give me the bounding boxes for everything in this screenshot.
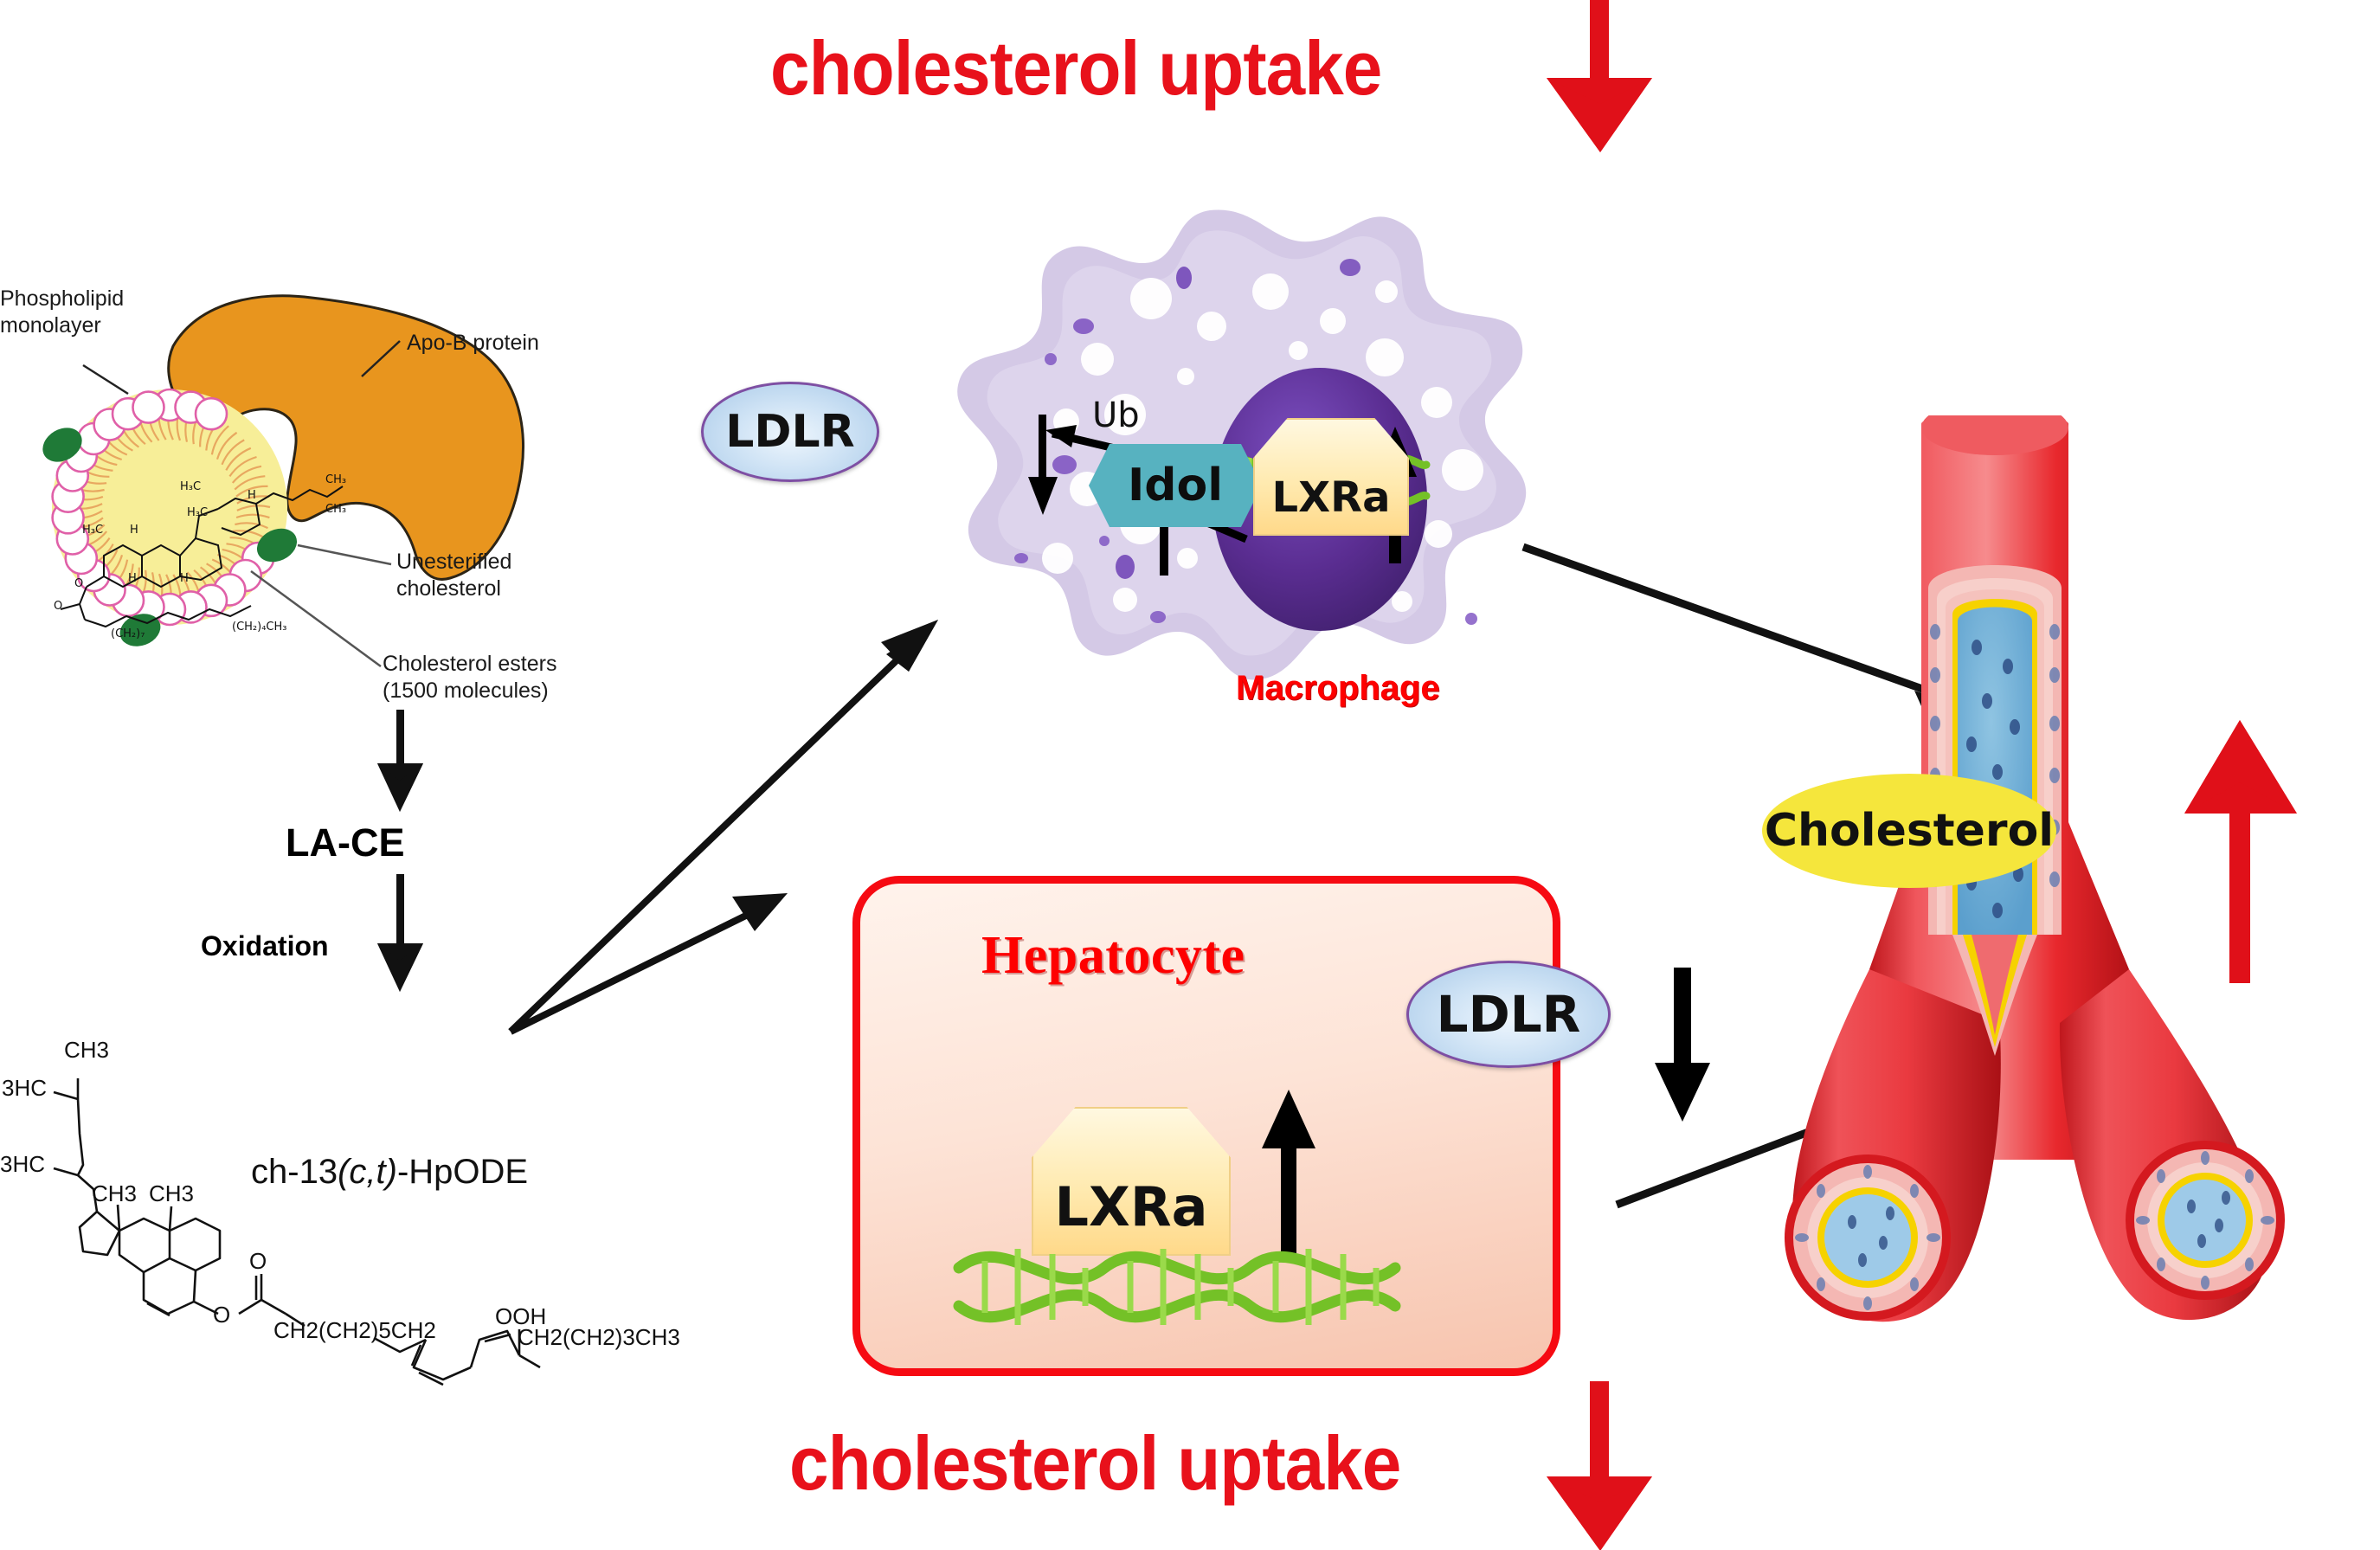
apob-protein-label: Apo-B protein (407, 331, 539, 356)
hpode-name-prefix: ch-13 (251, 1153, 338, 1191)
idol-label: Idol (1128, 460, 1223, 511)
ubiquitin-label: Ub (1092, 396, 1140, 435)
bottom-cholesterol-uptake-label: cholesterol uptake (789, 1419, 1400, 1508)
svg-text:H: H (128, 572, 137, 585)
phospholipid-monolayer-label: Phospholipid monolayer (0, 286, 124, 339)
svg-text:H₃C: H₃C (180, 480, 201, 493)
chem-ch3-a: CH3 (64, 1037, 109, 1063)
svg-text:H₃C: H₃C (82, 524, 103, 537)
svg-text:CH₃: CH₃ (325, 473, 346, 486)
macrophage-ldlr-badge: LDLR (701, 382, 879, 482)
top-cholesterol-uptake-label: cholesterol uptake (770, 24, 1381, 113)
svg-text:(CH₂)₇: (CH₂)₇ (111, 627, 145, 640)
svg-text:O: O (54, 600, 62, 613)
svg-text:CH₃: CH₃ (325, 503, 346, 516)
bottom-red-down-arrow-icon (1536, 1381, 1675, 1550)
cholesterol-plaque-badge: Cholesterol (1762, 774, 2056, 888)
hpode-name-label: ch-13(c,t)-HpODE (251, 1153, 528, 1192)
chem-chain-2: CH2(CH2)3CH3 (518, 1324, 680, 1350)
oxidation-label: Oxidation (201, 930, 329, 962)
chem-chain-1: CH2(CH2)5CH2 (273, 1317, 436, 1343)
hepatocyte-ldlr-label: LDLR (1437, 985, 1581, 1044)
chem-3hc-b: 3HC (0, 1151, 45, 1177)
macrophage-lxra-label: LXRa (1272, 473, 1391, 522)
top-red-down-arrow-icon (1536, 0, 1675, 156)
hepatocyte-name-label: Hepatocyte (981, 925, 1245, 987)
right-red-up-arrow-icon (2179, 710, 2309, 987)
idol-badge: Idol (1089, 444, 1262, 527)
svg-text:O: O (74, 577, 83, 590)
svg-text:H: H (248, 489, 256, 502)
cholesterol-plaque-label: Cholesterol (1765, 805, 2054, 857)
unesterified-cholesterol-label: Unesterified cholesterol (396, 549, 511, 602)
chem-ch3-b: CH3 (92, 1180, 137, 1206)
hepatocyte-dna-icon (947, 1230, 1414, 1351)
hepatocyte-ldlr-badge: LDLR (1406, 961, 1611, 1068)
svg-text:H: H (180, 572, 189, 585)
la-ce-label: LA-CE (286, 820, 404, 865)
chem-o-ester: O (213, 1302, 230, 1328)
svg-text:H: H (130, 524, 138, 537)
svg-text:(CH₂)₄CH₃: (CH₂)₄CH₃ (232, 621, 286, 634)
figure-canvas: cholesterol uptake (0, 0, 2380, 1550)
macrophage-lxra-badge: LXRa (1253, 418, 1409, 536)
hpode-name-suffix: -HpODE (397, 1153, 528, 1191)
chem-ch3-c: CH3 (149, 1180, 194, 1206)
macrophage-name-label: Macrophage (1236, 669, 1440, 708)
hpode-name-stereo: (c,t) (338, 1153, 397, 1191)
svg-text:H₃C: H₃C (187, 506, 208, 519)
macrophage-ldlr-label: LDLR (725, 406, 854, 458)
hepatocyte-cell-box: Hepatocyte LXRa (852, 876, 1560, 1376)
chem-o-carbonyl: O (249, 1248, 267, 1274)
chem-3hc-a: 3HC (2, 1075, 47, 1101)
